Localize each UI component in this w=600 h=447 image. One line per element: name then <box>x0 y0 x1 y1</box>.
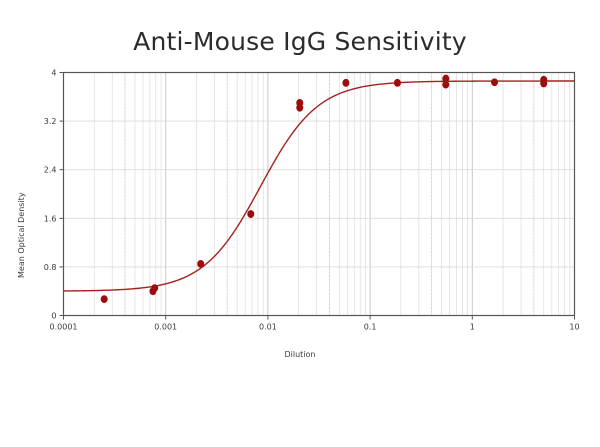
y-tick-label: 3.2 <box>44 117 57 126</box>
data-point <box>151 284 158 292</box>
y-tick-label: 2.4 <box>44 166 57 175</box>
horizontal-gridlines <box>64 121 575 267</box>
major-vertical-gridlines <box>64 73 575 316</box>
y-tick-label: 0 <box>51 312 56 321</box>
fit-curve <box>64 81 575 291</box>
data-point-group <box>101 75 548 303</box>
y-axis-ticks: 00.81.62.43.24 <box>44 69 64 321</box>
y-tick-label: 1.6 <box>44 214 57 223</box>
x-axis-ticks: 0.00010.0010.010.1110 <box>50 316 580 332</box>
plot-area: 00.81.62.43.24 0.00010.0010.010.1110 <box>0 0 600 447</box>
data-point <box>342 79 349 87</box>
x-tick-label: 1 <box>470 323 475 332</box>
data-point <box>101 295 108 303</box>
y-tick-label: 4 <box>51 69 56 78</box>
x-tick-label: 0.0001 <box>50 323 78 332</box>
x-tick-label: 0.001 <box>154 323 177 332</box>
data-point <box>296 99 303 107</box>
x-tick-label: 0.01 <box>259 323 277 332</box>
plot-frame <box>64 73 575 316</box>
data-point <box>540 76 547 84</box>
data-point <box>442 75 449 83</box>
x-tick-label: 10 <box>569 323 579 332</box>
chart-container: Anti-Mouse IgG Sensitivity Mean Optical … <box>0 0 600 447</box>
y-tick-label: 0.8 <box>44 263 57 272</box>
x-tick-label: 0.1 <box>364 323 377 332</box>
data-point <box>491 78 498 86</box>
data-point <box>247 210 254 218</box>
data-point <box>394 79 401 87</box>
data-point <box>197 260 204 268</box>
